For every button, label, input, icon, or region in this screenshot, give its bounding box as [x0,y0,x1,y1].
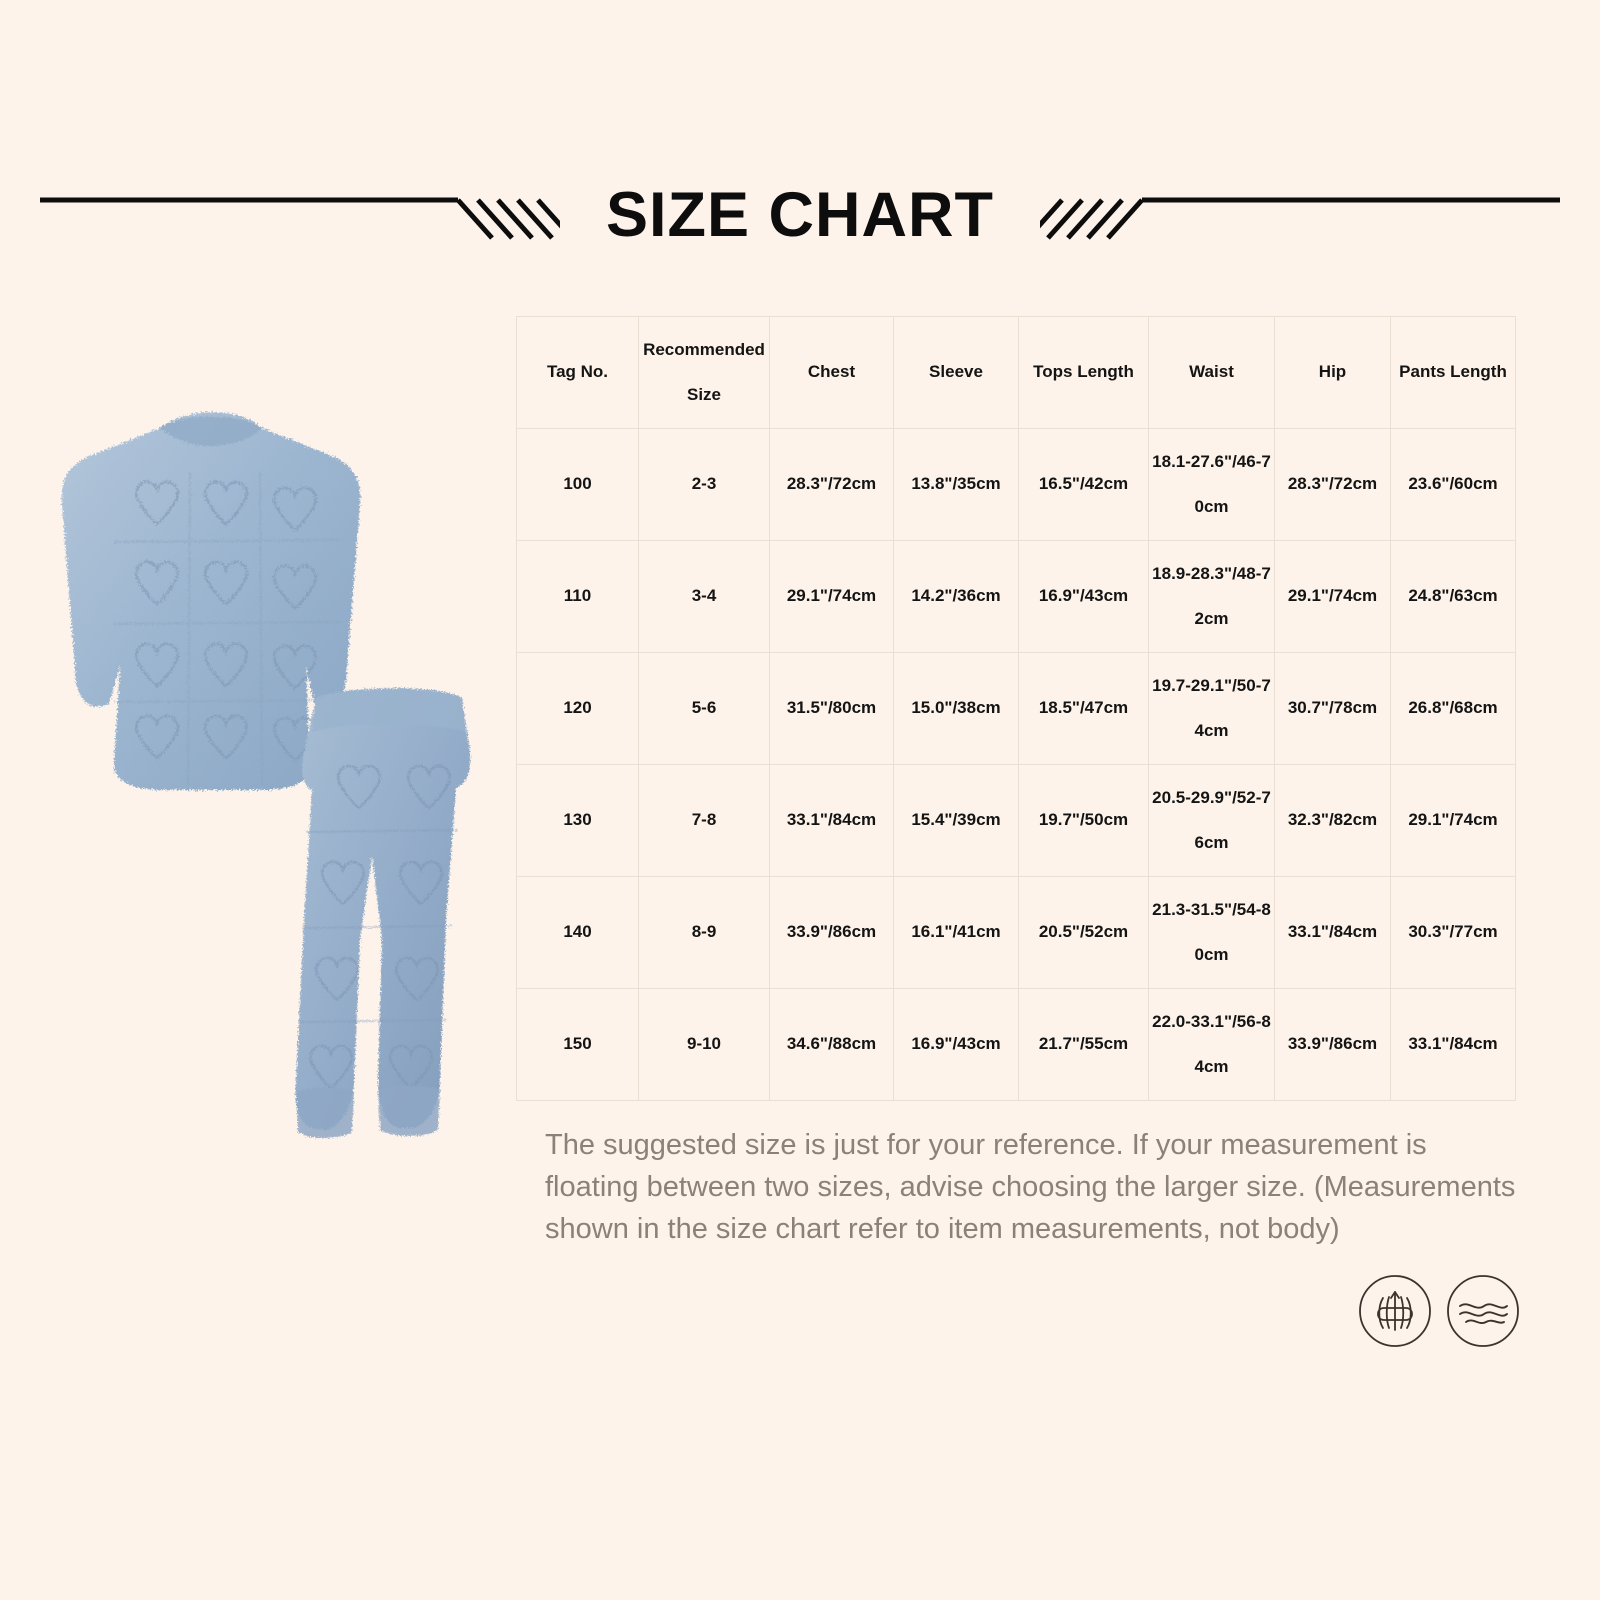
cell-tops-length: 16.9"/43cm [1019,541,1149,653]
table-row: 130 7-8 33.1"/84cm 15.4"/39cm 19.7"/50cm… [517,765,1516,877]
cell-pants-length: 33.1"/84cm [1391,989,1516,1101]
column-header-pants-length: Pants Length [1391,317,1516,429]
cell-rec-size: 9-10 [639,989,770,1101]
size-table-container: Tag No. Recommended Size Chest Sleeve To… [516,316,1515,1101]
cell-tag: 140 [517,877,639,989]
waist-line-1: 22.0-33.1"/56-8 [1151,1000,1272,1044]
soft-wave-icon [1444,1272,1522,1350]
column-header-sleeve: Sleeve [894,317,1019,429]
breathable-fabric-icon [1356,1272,1434,1350]
cell-tag: 130 [517,765,639,877]
cell-chest: 29.1"/74cm [770,541,894,653]
cell-waist: 20.5-29.9"/52-7 6cm [1149,765,1275,877]
cell-chest: 31.5"/80cm [770,653,894,765]
column-header-tag-no: Tag No. [517,317,639,429]
table-row: 140 8-9 33.9"/86cm 16.1"/41cm 20.5"/52cm… [517,877,1516,989]
waist-line-2: 0cm [1151,933,1272,977]
cell-pants-length: 24.8"/63cm [1391,541,1516,653]
rec-size-line-2: Size [641,373,767,417]
table-header-row: Tag No. Recommended Size Chest Sleeve To… [517,317,1516,429]
column-header-waist: Waist [1149,317,1275,429]
cell-tag: 100 [517,429,639,541]
cell-hip: 33.1"/84cm [1275,877,1391,989]
page-header: SIZE CHART [0,160,1600,270]
decorative-line-right [1040,160,1560,270]
cell-sleeve: 15.4"/39cm [894,765,1019,877]
waist-line-2: 0cm [1151,485,1272,529]
cell-sleeve: 13.8"/35cm [894,429,1019,541]
cell-chest: 33.1"/84cm [770,765,894,877]
cell-pants-length: 29.1"/74cm [1391,765,1516,877]
feature-badges [1356,1272,1522,1350]
cell-sleeve: 15.0"/38cm [894,653,1019,765]
table-row: 100 2-3 28.3"/72cm 13.8"/35cm 16.5"/42cm… [517,429,1516,541]
cell-waist: 19.7-29.1"/50-7 4cm [1149,653,1275,765]
waist-line-1: 18.1-27.6"/46-7 [1151,440,1272,484]
cell-hip: 28.3"/72cm [1275,429,1391,541]
waist-line-2: 4cm [1151,709,1272,753]
rec-size-line-1: Recommended [641,328,767,372]
cell-sleeve: 16.1"/41cm [894,877,1019,989]
size-chart-page: SIZE CHART [0,0,1600,1600]
cell-rec-size: 7-8 [639,765,770,877]
waist-line-1: 20.5-29.9"/52-7 [1151,776,1272,820]
table-row: 150 9-10 34.6"/88cm 16.9"/43cm 21.7"/55c… [517,989,1516,1101]
cell-waist: 21.3-31.5"/54-8 0cm [1149,877,1275,989]
cell-tops-length: 18.5"/47cm [1019,653,1149,765]
cell-chest: 28.3"/72cm [770,429,894,541]
waist-line-2: 6cm [1151,821,1272,865]
table-row: 110 3-4 29.1"/74cm 14.2"/36cm 16.9"/43cm… [517,541,1516,653]
size-table: Tag No. Recommended Size Chest Sleeve To… [516,316,1516,1101]
cell-hip: 32.3"/82cm [1275,765,1391,877]
waist-line-2: 2cm [1151,597,1272,641]
product-pants [296,688,471,1138]
cell-pants-length: 26.8"/68cm [1391,653,1516,765]
waist-line-1: 19.7-29.1"/50-7 [1151,664,1272,708]
cell-hip: 30.7"/78cm [1275,653,1391,765]
cell-hip: 29.1"/74cm [1275,541,1391,653]
waist-line-1: 21.3-31.5"/54-8 [1151,888,1272,932]
table-row: 120 5-6 31.5"/80cm 15.0"/38cm 18.5"/47cm… [517,653,1516,765]
column-header-recommended-size: Recommended Size [639,317,770,429]
cell-pants-length: 23.6"/60cm [1391,429,1516,541]
table-body: 100 2-3 28.3"/72cm 13.8"/35cm 16.5"/42cm… [517,429,1516,1101]
column-header-chest: Chest [770,317,894,429]
cell-rec-size: 3-4 [639,541,770,653]
cell-tag: 120 [517,653,639,765]
cell-waist: 18.9-28.3"/48-7 2cm [1149,541,1275,653]
cell-rec-size: 5-6 [639,653,770,765]
cell-waist: 22.0-33.1"/56-8 4cm [1149,989,1275,1101]
cell-tag: 150 [517,989,639,1101]
cell-hip: 33.9"/86cm [1275,989,1391,1101]
cell-rec-size: 8-9 [639,877,770,989]
cell-tops-length: 19.7"/50cm [1019,765,1149,877]
size-note-text: The suggested size is just for your refe… [545,1124,1525,1250]
waist-line-1: 18.9-28.3"/48-7 [1151,552,1272,596]
cell-chest: 33.9"/86cm [770,877,894,989]
cell-pants-length: 30.3"/77cm [1391,877,1516,989]
cell-tops-length: 16.5"/42cm [1019,429,1149,541]
column-header-tops-length: Tops Length [1019,317,1149,429]
product-image [10,380,510,1180]
cell-rec-size: 2-3 [639,429,770,541]
cell-sleeve: 14.2"/36cm [894,541,1019,653]
waist-line-2: 4cm [1151,1045,1272,1089]
cell-chest: 34.6"/88cm [770,989,894,1101]
cell-tops-length: 20.5"/52cm [1019,877,1149,989]
cell-sleeve: 16.9"/43cm [894,989,1019,1101]
cell-tops-length: 21.7"/55cm [1019,989,1149,1101]
cell-waist: 18.1-27.6"/46-7 0cm [1149,429,1275,541]
cell-tag: 110 [517,541,639,653]
column-header-hip: Hip [1275,317,1391,429]
